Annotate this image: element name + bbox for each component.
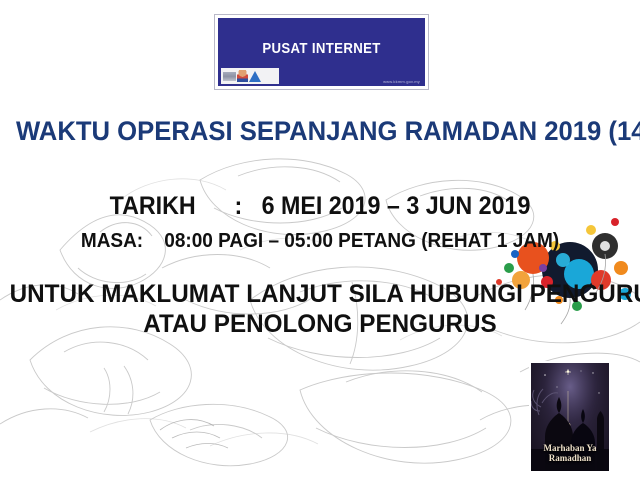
time-line: MASA: 08:00 PAGI – 05:00 PETANG (REHAT 1… <box>16 230 624 253</box>
ramadan-caption-line-2: Ramadhan <box>531 453 609 463</box>
logo-wordmark-block <box>223 72 236 81</box>
mosque-night-scene: Marhaban Ya Ramadhan <box>531 363 609 471</box>
pusat-internet-banner: PUSAT INTERNET www.kkmm.gov.my <box>214 14 429 90</box>
ramadan-operating-hours-poster: PUSAT INTERNET www.kkmm.gov.my WAKTU OPE… <box>0 0 640 480</box>
pusat-internet-logo <box>221 68 279 84</box>
page-title: WAKTU OPERASI SEPANJANG RAMADAN 2019 (14… <box>16 116 624 147</box>
ramadan-caption: Marhaban Ya Ramadhan <box>531 443 609 463</box>
logo-person-figure-icon <box>237 70 248 82</box>
logo-triangle-icon <box>249 71 261 82</box>
contact-message-line-2: ATAU PENOLONG PENGURUS <box>10 310 631 339</box>
banner-blue-panel: PUSAT INTERNET www.kkmm.gov.my <box>218 18 425 86</box>
date-line: TARIKH : 6 MEI 2019 – 3 JUN 2019 <box>22 192 617 221</box>
ramadan-caption-line-1: Marhaban Ya <box>531 443 609 453</box>
contact-message-line-1: UNTUK MAKLUMAT LANJUT SILA HUBUNGI PENGU… <box>10 280 631 309</box>
banner-url-text: www.kkmm.gov.my <box>383 79 420 84</box>
marhaban-ya-ramadhan-image: Marhaban Ya Ramadhan <box>529 361 611 473</box>
banner-title: PUSAT INTERNET <box>230 40 412 57</box>
